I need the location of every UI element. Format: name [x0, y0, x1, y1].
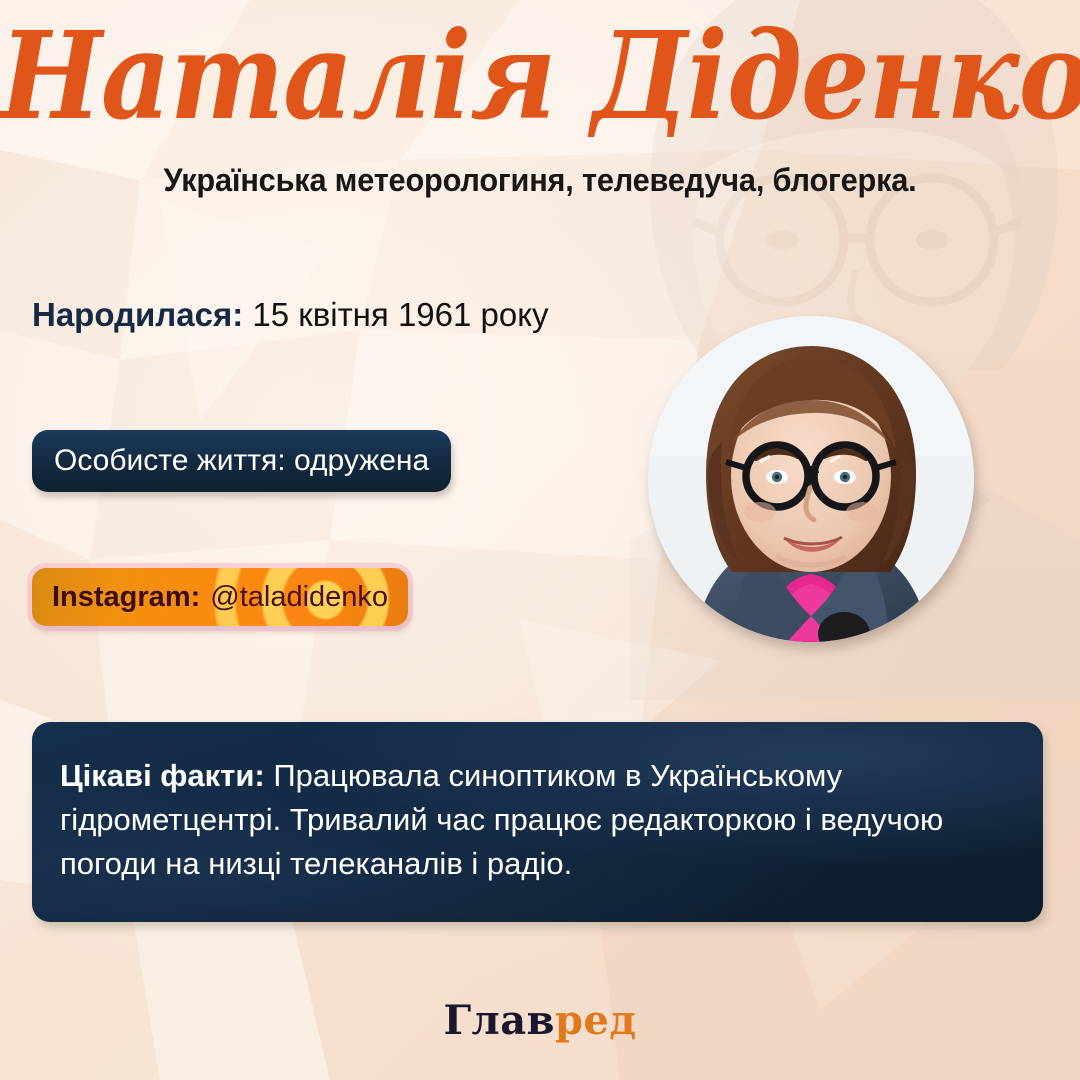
birth-info: Народилася: 15 квітня 1961 року	[32, 296, 549, 334]
logo-part-dark: Глав	[443, 997, 555, 1044]
page-title: Наталія Діденко	[0, 14, 1080, 141]
birth-value: 15 квітня 1961 року	[252, 296, 548, 333]
site-logo[interactable]: Главред	[0, 997, 1080, 1044]
personal-life-text: Особисте життя: одружена	[54, 444, 429, 478]
facts-label: Цікаві факти:	[60, 758, 265, 793]
interesting-facts-block: Цікаві факти: Працювала синоптиком в Укр…	[32, 722, 1043, 922]
logo-part-orange: ред	[555, 997, 637, 1044]
personal-life-badge: Особисте життя: одружена	[32, 430, 451, 492]
instagram-handle[interactable]: @taladidenko	[210, 581, 388, 614]
portrait-photo	[648, 316, 974, 642]
infographic-poster: Наталія Діденко Українська метеорологиня…	[0, 0, 1080, 1080]
birth-label: Народилася:	[32, 296, 243, 333]
instagram-label: Instagram:	[52, 581, 200, 614]
page-subtitle: Українська метеорологиня, телеведуча, бл…	[22, 162, 1059, 199]
instagram-badge[interactable]: Instagram: @taladidenko	[32, 568, 408, 626]
